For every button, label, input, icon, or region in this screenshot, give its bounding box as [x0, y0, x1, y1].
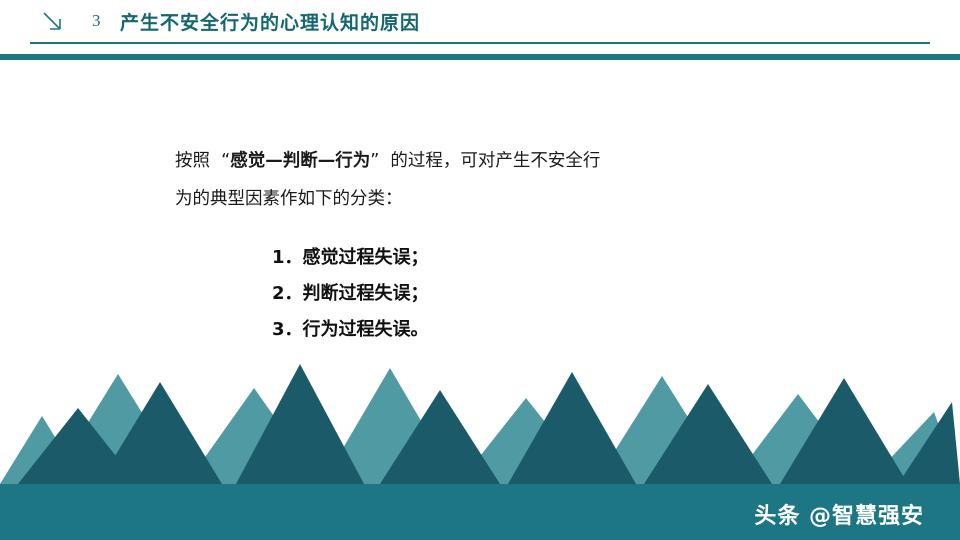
slide: 3 产生不安全行为的心理认知的原因 按照 “感觉—判断—行为” 的过程，可对产生… [0, 0, 960, 540]
list-item: 3．行为过程失误。 [272, 312, 429, 348]
slide-footer: 头条 @智慧强安 [0, 484, 960, 540]
list-item: 2．判断过程失误； [272, 276, 429, 312]
page-title: 产生不安全行为的心理认知的原因 [120, 8, 420, 35]
section-number: 3 [92, 11, 101, 31]
paragraph-line-2: 为的典型因素作如下的分类： [175, 180, 403, 218]
paragraph-line1-pre: 按照 “ [175, 151, 230, 171]
header-divider-thin [30, 42, 930, 44]
arrow-down-right-icon [40, 10, 66, 36]
paragraph-line1-emphasis: 感觉—判断—行为 [230, 151, 370, 171]
factor-list: 1．感觉过程失误； 2．判断过程失误； 3．行为过程失误。 [272, 240, 429, 348]
brand-watermark: 头条 @智慧强安 [754, 498, 924, 530]
slide-header: 3 产生不安全行为的心理认知的原因 [0, 0, 960, 46]
list-item: 1．感觉过程失误； [272, 240, 429, 276]
paragraph-line-1: 按照 “感觉—判断—行为” 的过程，可对产生不安全行 [175, 142, 600, 180]
paragraph-line1-post: ” 的过程，可对产生不安全行 [370, 151, 600, 171]
header-divider-thick [0, 54, 960, 60]
mountain-decoration [0, 354, 960, 484]
